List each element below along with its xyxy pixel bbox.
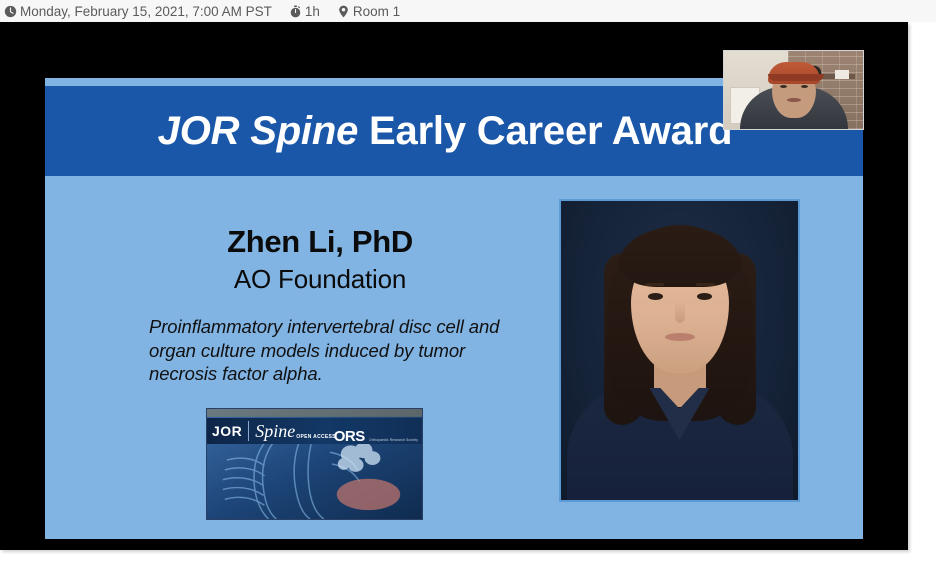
session-datetime-label: Monday, February 15, 2021, 7:00 AM PST [20,4,272,19]
abstract-title: Proinflammatory intervertebral disc cell… [149,315,509,386]
session-duration-label: 1h [305,4,320,19]
portrait-eyebrow-left [645,283,664,286]
slide-title-journal: JOR Spine [158,109,358,153]
session-room-label: Room 1 [353,4,400,19]
portrait-eye-right [697,293,712,300]
portrait-eye-left [648,293,663,300]
ors-logo: ORS Orthopaedic Research Society [334,428,418,446]
speaker-portrait [559,199,800,502]
presenter-affiliation: AO Foundation [105,264,535,295]
slide-title-award: Early Career Award [358,109,732,153]
cover-open-access-label: OPEN ACCESS [296,434,336,440]
journal-cover-image: JOR Spine OPEN ACCESS ORS Orthopaedic Re… [206,408,423,520]
session-duration: 1h [289,4,320,19]
presenter-name: Zhen Li, PhD [105,224,535,260]
clock-icon [4,5,17,18]
cover-masthead: JOR Spine OPEN ACCESS ORS Orthopaedic Re… [207,418,422,444]
slide-title: JOR Spine Early Career Award [158,109,733,154]
session-room: Room 1 [337,4,400,19]
webcam-shelf-box [835,70,849,79]
presentation-video-stage[interactable]: JOR Spine Early Career Award Zhen Li, Ph… [0,22,908,550]
webcam-person-cap-brim [768,74,824,81]
presentation-slide: JOR Spine Early Career Award Zhen Li, Ph… [45,78,863,539]
portrait-nose [675,301,685,323]
stopwatch-icon [289,5,302,18]
cover-jor-label: JOR [212,423,242,439]
portrait-eyebrow-right [696,283,715,286]
ors-logo-mark: ORS [334,428,365,445]
cover-divider [248,421,249,441]
map-pin-icon [337,5,350,18]
portrait-mouth [665,333,695,341]
webcam-person-mouth [787,98,801,102]
presenter-block: Zhen Li, PhD AO Foundation [105,224,535,295]
session-datetime: Monday, February 15, 2021, 7:00 AM PST [4,4,272,19]
session-meta-bar: Monday, February 15, 2021, 7:00 AM PST 1… [0,0,936,22]
ors-logo-subtitle: Orthopaedic Research Society [369,438,418,442]
portrait-fringe [619,227,741,287]
webcam-pip-video[interactable] [723,50,864,130]
cover-spine-label: Spine [255,421,295,442]
